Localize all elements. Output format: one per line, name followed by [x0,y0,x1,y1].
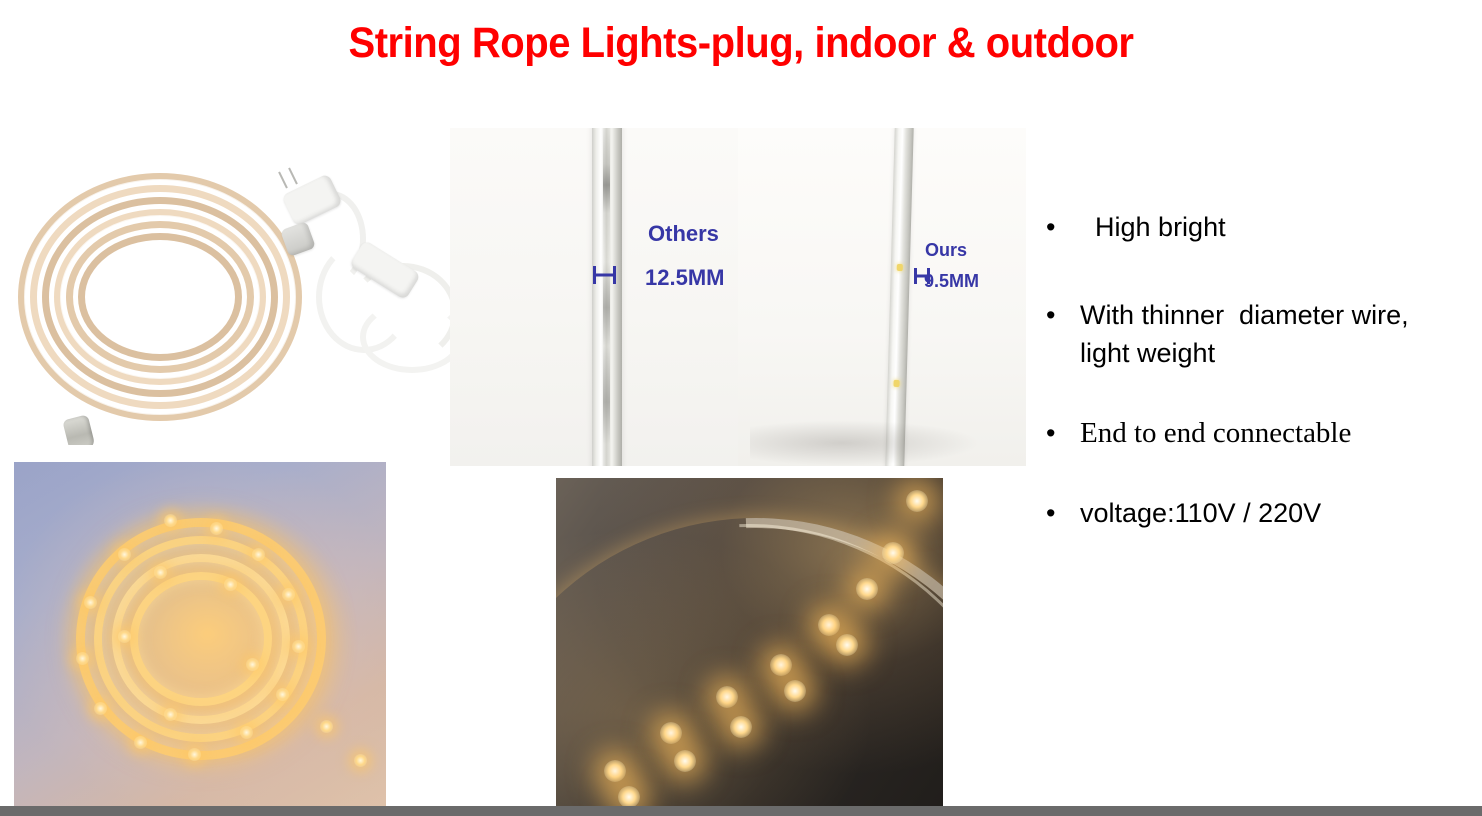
label-ours: Ours [925,240,967,261]
label-others: Others [648,221,719,247]
feature-text-thinner-wire: With thinner diameter wire, light weight [1080,296,1482,372]
led-bead [118,548,131,561]
led-bead [246,658,259,671]
slide-canvas: String Rope Lights-plug, indoor & outdoo… [0,0,1482,816]
illuminated-coil-photo [14,462,386,806]
diameter-comparison-photo [450,128,1026,466]
bullet-glyph-icon: • [1036,296,1080,334]
led-bead [730,716,752,738]
plug-prong [278,171,288,188]
led-bead [320,720,333,733]
led-bead [210,522,223,535]
plug-prong [288,167,298,184]
led-bead [164,708,177,721]
led-bead [897,264,903,271]
led-bead [660,722,682,744]
product-photo-coil-with-plug [0,145,470,445]
led-bead [84,596,97,609]
led-bead [76,652,89,665]
led-bead [882,542,904,564]
power-cord-segment [360,301,464,373]
comparison-right-panel [738,128,1026,466]
feature-list: • High bright • With thinner diameter wi… [1036,208,1482,532]
led-bead [154,566,167,579]
led-bead [292,640,305,653]
list-item: • High bright [1036,208,1482,246]
rope-end-cap [62,414,95,445]
list-item: • End to end connectable [1036,414,1482,452]
led-bead [354,754,367,767]
rope-light-arc-highlight [556,478,943,806]
led-bead [94,702,107,715]
dimension-marker-others-icon [593,266,616,284]
dimension-tick-right [927,268,930,284]
label-others-measurement: 12.5MM [645,265,724,291]
surface-shadow [750,420,980,466]
illuminated-rope-closeup-photo [556,478,943,806]
bullet-glyph-icon: • [1036,414,1080,452]
led-bead [716,686,738,708]
led-bead [893,380,899,387]
list-item: • With thinner diameter wire, light weig… [1036,296,1482,372]
feature-text-high-bright: High bright [1080,208,1482,246]
list-item: • voltage:110V / 220V [1036,494,1482,532]
dimension-marker-ours-icon [914,268,930,284]
led-bead [134,736,147,749]
led-bead [604,760,626,782]
led-bead [240,726,253,739]
led-bead [784,680,806,702]
footer-bar [0,806,1482,816]
led-bead [836,634,858,656]
led-bead [252,548,265,561]
led-bead [164,514,177,527]
led-bead [118,630,131,643]
bullet-glyph-icon: • [1036,494,1080,532]
feature-text-voltage: voltage:110V / 220V [1080,494,1482,532]
competitor-rope-strand [592,128,622,466]
rope-coil-highlight [60,215,260,379]
feature-text-end-connectable: End to end connectable [1080,414,1482,452]
led-bead [906,490,928,512]
led-bead [856,578,878,600]
bullet-glyph-icon: • [1036,208,1080,246]
dimension-tick-right [613,266,616,284]
led-bead [224,578,237,591]
led-bead [276,688,289,701]
led-bead [674,750,696,772]
page-title: String Rope Lights-plug, indoor & outdoo… [52,18,1430,68]
led-bead [188,748,201,761]
glowing-rope-loop [130,572,272,706]
led-bead [818,614,840,636]
led-bead [770,654,792,676]
led-bead [282,588,295,601]
led-bead [618,786,640,806]
label-ours-measurement: 9.5MM [924,271,979,292]
